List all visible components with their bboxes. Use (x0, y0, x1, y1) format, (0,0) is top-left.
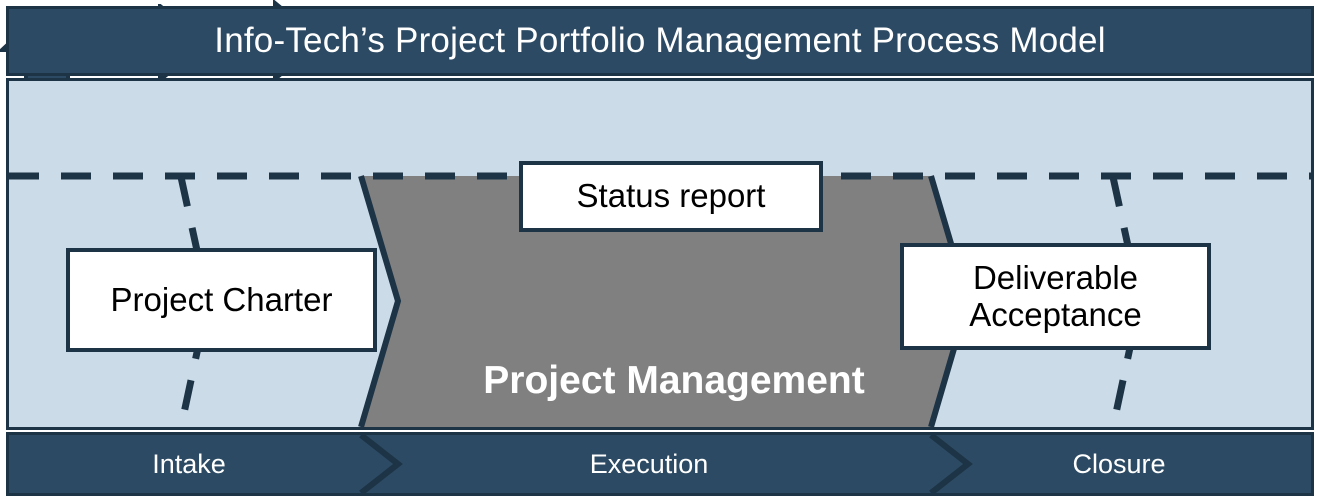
diagram-title-bar: Info-Tech’s Project Portfolio Management… (6, 6, 1314, 76)
phase-label-closure[interactable]: Closure (934, 435, 1304, 493)
deliverable-acceptance-label-line2: Acceptance (969, 297, 1141, 334)
center-process-label: Project Management (439, 351, 909, 411)
project-charter-box[interactable]: Project Charter (66, 248, 377, 352)
ppm-process-model-diagram: Info-Tech’s Project Portfolio Management… (0, 0, 1320, 502)
status-report-box[interactable]: Status report (519, 161, 823, 232)
phase-band: Intake Execution Closure (6, 432, 1314, 496)
phase-label-intake[interactable]: Intake (9, 435, 369, 493)
project-charter-label: Project Charter (111, 283, 333, 318)
deliverable-acceptance-label-line1: Deliverable (973, 260, 1138, 297)
page-title: Info-Tech’s Project Portfolio Management… (214, 21, 1105, 61)
deliverable-acceptance-box[interactable]: Deliverable Acceptance (900, 243, 1211, 350)
phase-label-execution[interactable]: Execution (389, 435, 909, 493)
status-report-label: Status report (577, 179, 766, 214)
